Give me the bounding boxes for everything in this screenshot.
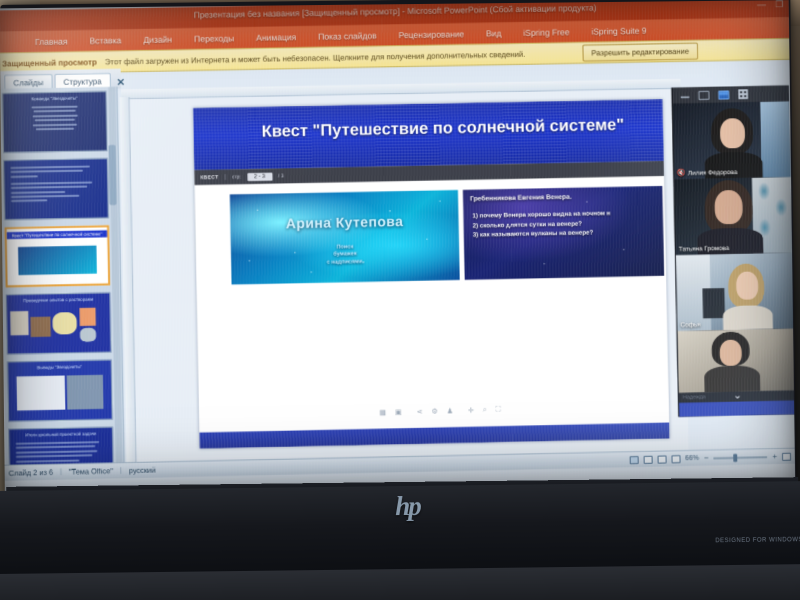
grid-view-icon[interactable] — [738, 89, 748, 99]
tab-glavnaya[interactable]: Главная — [24, 33, 79, 50]
thumbnail-slide-2[interactable] — [3, 158, 109, 220]
tab-dizayn[interactable]: Дизайн — [132, 31, 183, 48]
slide-media-row: Арина Кутепова Поиск бумажек с надписями… — [195, 176, 667, 285]
thumbnail-body — [9, 105, 100, 148]
tab-retsenzirovanie[interactable]: Рецензирование — [387, 26, 475, 44]
base-sticker-label: DESIGNED FOR WINDOWS — [715, 537, 800, 544]
slide-thumbnail-pane[interactable]: Команда "Звездочеты" — [0, 87, 125, 465]
thumbnail-title: Квест "Путешествие по солнечной системе" — [7, 230, 108, 239]
zoom-slider-knob[interactable] — [734, 453, 738, 461]
thumbnail-title: Проведение опытов с растворами — [7, 296, 110, 303]
tab-ispring-free[interactable]: iSpring Free — [512, 24, 580, 41]
thumbnail-board-preview — [16, 376, 65, 411]
fullscreen-icon[interactable]: ⛶ — [496, 406, 501, 414]
tab-animatsiya[interactable]: Анимация — [245, 29, 307, 46]
zoom-out-button[interactable]: − — [704, 454, 709, 463]
thumbnail-title: Итоги школьной проектной задачи — [9, 431, 112, 438]
protected-view-label: Защищенный просмотр — [2, 57, 97, 68]
face — [719, 340, 741, 366]
single-view-icon[interactable] — [698, 90, 709, 99]
thumbnail-title: Команда "Звездочеты" — [3, 95, 106, 102]
close-pane-icon[interactable]: ✕ — [117, 78, 126, 89]
thumbnail-slide-5[interactable]: Выводы "Звездочеты" — [7, 359, 113, 421]
scrollbar-thumb[interactable] — [109, 145, 117, 205]
participant-name-row: Софья — [680, 321, 700, 328]
page-label: стр: — [232, 174, 241, 180]
video-panel-footer — [679, 400, 795, 416]
status-divider: | — [60, 469, 62, 476]
slide-media-toolbar[interactable]: ▦ ▣ ⋖ ⚙ ♟ ✛ ⌕ ⛶ — [379, 406, 501, 417]
theme-name: "Тема Office" — [69, 466, 113, 476]
author-subtitle: Поиск бумажек с надписями. — [231, 242, 460, 269]
thumbnail-slide-3[interactable]: Квест "Путешествие по солнечной системе" — [5, 225, 111, 287]
side-by-side-icon[interactable] — [718, 90, 729, 99]
language-indicator[interactable]: русский — [129, 466, 156, 476]
status-divider: | — [120, 467, 122, 474]
page-total: / 3 — [278, 173, 284, 179]
protected-view-message: Этот файл загружен из Интернета и может … — [105, 49, 526, 66]
thumbnail-panel-preview — [67, 375, 104, 410]
video-conference-panel[interactable]: 🔇 Лилия Федорова Татьяна Громова — [671, 85, 795, 416]
slide-footer-band — [199, 422, 669, 448]
tab-perehody[interactable]: Переходы — [183, 30, 245, 47]
thumbnail-photo-4 — [79, 308, 95, 326]
window-controls: — ❐ — [756, 0, 785, 10]
screen-bezel: Презентация без названия [Защищенный про… — [0, 0, 796, 497]
thumbnail-slide-6[interactable]: Итоги школьной проектной задачи — [8, 427, 114, 465]
photograph-of-laptop-screen: Презентация без названия [Защищенный про… — [0, 0, 800, 600]
participant-name: Софья — [680, 321, 700, 328]
tab-pokaz-slaydov[interactable]: Показ слайдов — [307, 27, 388, 44]
thumbnail-photo-2 — [30, 317, 50, 337]
player-title: КВЕСТ — [200, 174, 218, 180]
participant-name-row: 🔇 Лилия Федорова — [677, 168, 737, 177]
thumbnail-body — [16, 441, 107, 465]
normal-view-icon[interactable] — [629, 456, 638, 464]
thumbnail-photo-3 — [52, 312, 77, 335]
participant-name-row: Татьяна Громова — [679, 245, 730, 253]
thumbnail-photo-1 — [10, 311, 29, 335]
questions-heading: Гребенникова Евгения Венера. — [470, 194, 572, 203]
search-icon[interactable]: ⌕ — [483, 406, 487, 414]
thumbnail-title: Выводы "Звездочеты" — [8, 364, 111, 371]
laptop-screen: Презентация без названия [Защищенный про… — [0, 0, 795, 494]
thumbnail-media-preview — [18, 245, 97, 275]
settings-icon[interactable]: ⚙ — [431, 407, 437, 415]
zoom-level: 66% — [685, 455, 699, 462]
enable-editing-button[interactable]: Разрешить редактирование — [582, 42, 698, 61]
hp-brand-logo: hp — [384, 488, 430, 525]
fit-slide-icon[interactable] — [782, 452, 791, 460]
minimize-button[interactable]: — — [756, 0, 767, 10]
question-2: 2) сколько длятся сутки на венере? — [473, 218, 662, 231]
thumbnail-photo-5 — [80, 328, 96, 342]
questions-list: 1) почему Венера хорошо видна на ночном … — [472, 208, 661, 240]
participant-tile-2[interactable]: Татьяна Громова — [674, 177, 793, 255]
question-1: 1) почему Венера хорошо видна на ночном … — [472, 208, 661, 221]
tab-vid[interactable]: Вид — [475, 25, 513, 42]
author-title-card: Арина Кутепова Поиск бумажек с надписями… — [230, 190, 460, 285]
current-slide[interactable]: Квест "Путешествие по солнечной системе"… — [193, 99, 670, 448]
dark-object — [702, 288, 725, 318]
tab-vstavka[interactable]: Вставка — [78, 32, 132, 49]
question-3: 3) как называются вулканы на венере? — [473, 227, 662, 240]
slide-editing-area[interactable]: Квест "Путешествие по солнечной системе"… — [130, 89, 689, 465]
torso — [723, 305, 773, 330]
laptop: Презентация без названия [Защищенный про… — [0, 0, 800, 600]
page-number-input[interactable]: 2 - 3 — [247, 172, 272, 180]
mute-icon: 🔇 — [677, 169, 686, 177]
participant-name: Лилия Федорова — [688, 169, 738, 177]
author-name: Арина Кутепова — [230, 212, 458, 233]
participant-tile-4[interactable] — [677, 329, 795, 393]
grid-icon[interactable]: ▦ — [379, 409, 386, 417]
person-icon[interactable]: ♟ — [447, 407, 453, 415]
face — [714, 190, 743, 224]
reading-view-icon[interactable] — [657, 455, 666, 463]
restore-button[interactable]: ❐ — [774, 0, 785, 10]
plus-icon[interactable]: ✛ — [468, 407, 474, 415]
thumbnail-body — [10, 165, 101, 215]
minimize-icon[interactable] — [680, 93, 689, 98]
participant-tile-1[interactable]: 🔇 Лилия Федорова — [673, 101, 792, 179]
nav-divider: | — [224, 174, 226, 180]
status-right-group: 66% − + — [629, 452, 795, 465]
window-light — [760, 101, 791, 177]
face — [736, 271, 758, 299]
questions-panel: Гребенникова Евгения Венера. 1) почему В… — [463, 186, 664, 280]
participant-tile-3[interactable]: Софья — [676, 253, 795, 331]
thumbnail-slide-4[interactable]: Проведение опытов с растворами — [6, 292, 112, 354]
slideshow-view-icon[interactable] — [671, 455, 680, 463]
sorter-view-icon[interactable] — [643, 455, 652, 463]
face — [720, 118, 745, 148]
tab-ispring-suite-9[interactable]: iSpring Suite 9 — [580, 22, 657, 39]
participant-name: Татьяна Громова — [679, 245, 730, 253]
share-icon[interactable]: ⋖ — [417, 408, 423, 416]
zoom-slider[interactable] — [714, 456, 768, 459]
thumbnail-slide-1[interactable]: Команда "Звездочеты" — [2, 91, 108, 153]
slide-counter: Слайд 2 из 6 — [9, 468, 54, 478]
wall-panel — [673, 103, 700, 179]
zoom-in-button[interactable]: + — [772, 452, 777, 461]
image-icon[interactable]: ▣ — [395, 408, 402, 416]
